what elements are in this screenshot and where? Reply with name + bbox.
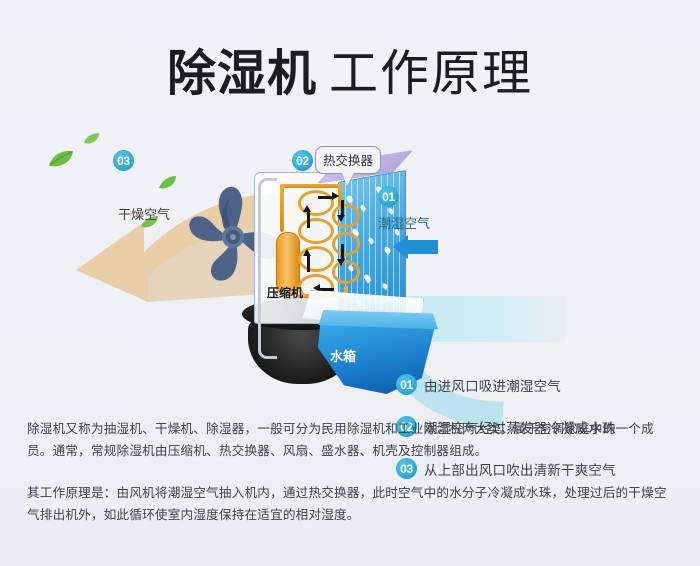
badge-03-dry-air: 03 bbox=[113, 150, 134, 171]
infographic-page: 除湿机工作原理 bbox=[0, 0, 700, 566]
refrigerant-coil bbox=[298, 190, 334, 216]
label-dry-air: 干燥空气 bbox=[118, 204, 170, 223]
refrigerant-pipe bbox=[280, 184, 342, 188]
legend-item-01: 01 由进风口吸进潮湿空气 bbox=[396, 374, 688, 395]
badge-02-heat-exchanger: 02 bbox=[292, 150, 313, 171]
humid-air-inlet-arrow bbox=[408, 240, 438, 254]
leaf-icon bbox=[159, 176, 177, 195]
dehumidifier-diagram: 03 干燥空气 02 热交换器 01 潮湿空气 压缩机 水箱 01 由进风口吸进… bbox=[0, 118, 700, 403]
coolant-tube bbox=[258, 178, 277, 359]
description-paragraph-2: 其工作原理是：由风机将潮湿空气抽入机内，通过热交换器，此时空气中的水分子冷凝成水… bbox=[27, 482, 677, 526]
label-water-tank: 水箱 bbox=[330, 346, 356, 365]
badge-01-humid-air: 01 bbox=[378, 186, 399, 207]
legend-text-01: 由进风口吸进潮湿空气 bbox=[424, 375, 561, 395]
refrigerant-coil bbox=[298, 218, 334, 244]
page-title: 除湿机工作原理 bbox=[0, 34, 700, 105]
legend-badge-01: 01 bbox=[396, 374, 417, 395]
badge-number: 01 bbox=[378, 186, 399, 207]
badge-number: 02 bbox=[292, 150, 313, 171]
refrigerant-pipe bbox=[280, 184, 284, 232]
title-secondary: 工作原理 bbox=[329, 47, 533, 101]
label-compressor: 压缩机 bbox=[262, 283, 308, 302]
refrigerant-coil bbox=[332, 232, 360, 256]
label-humid-air: 潮湿空气 bbox=[378, 213, 430, 232]
description-paragraph-1: 除湿机又称为抽湿机、干燥机、除湿器，一般可分为民用除湿机和工业除湿机两大类，属于… bbox=[27, 418, 677, 462]
leaf-icon bbox=[84, 132, 100, 150]
description-block: 除湿机又称为抽湿机、干燥机、除湿器，一般可分为民用除湿机和工业除湿机两大类，属于… bbox=[27, 418, 677, 526]
title-primary: 除湿机 bbox=[167, 47, 317, 101]
badge-number: 03 bbox=[113, 150, 134, 171]
label-heat-exchanger: 热交换器 bbox=[315, 146, 381, 174]
leaf-icon bbox=[48, 150, 74, 173]
